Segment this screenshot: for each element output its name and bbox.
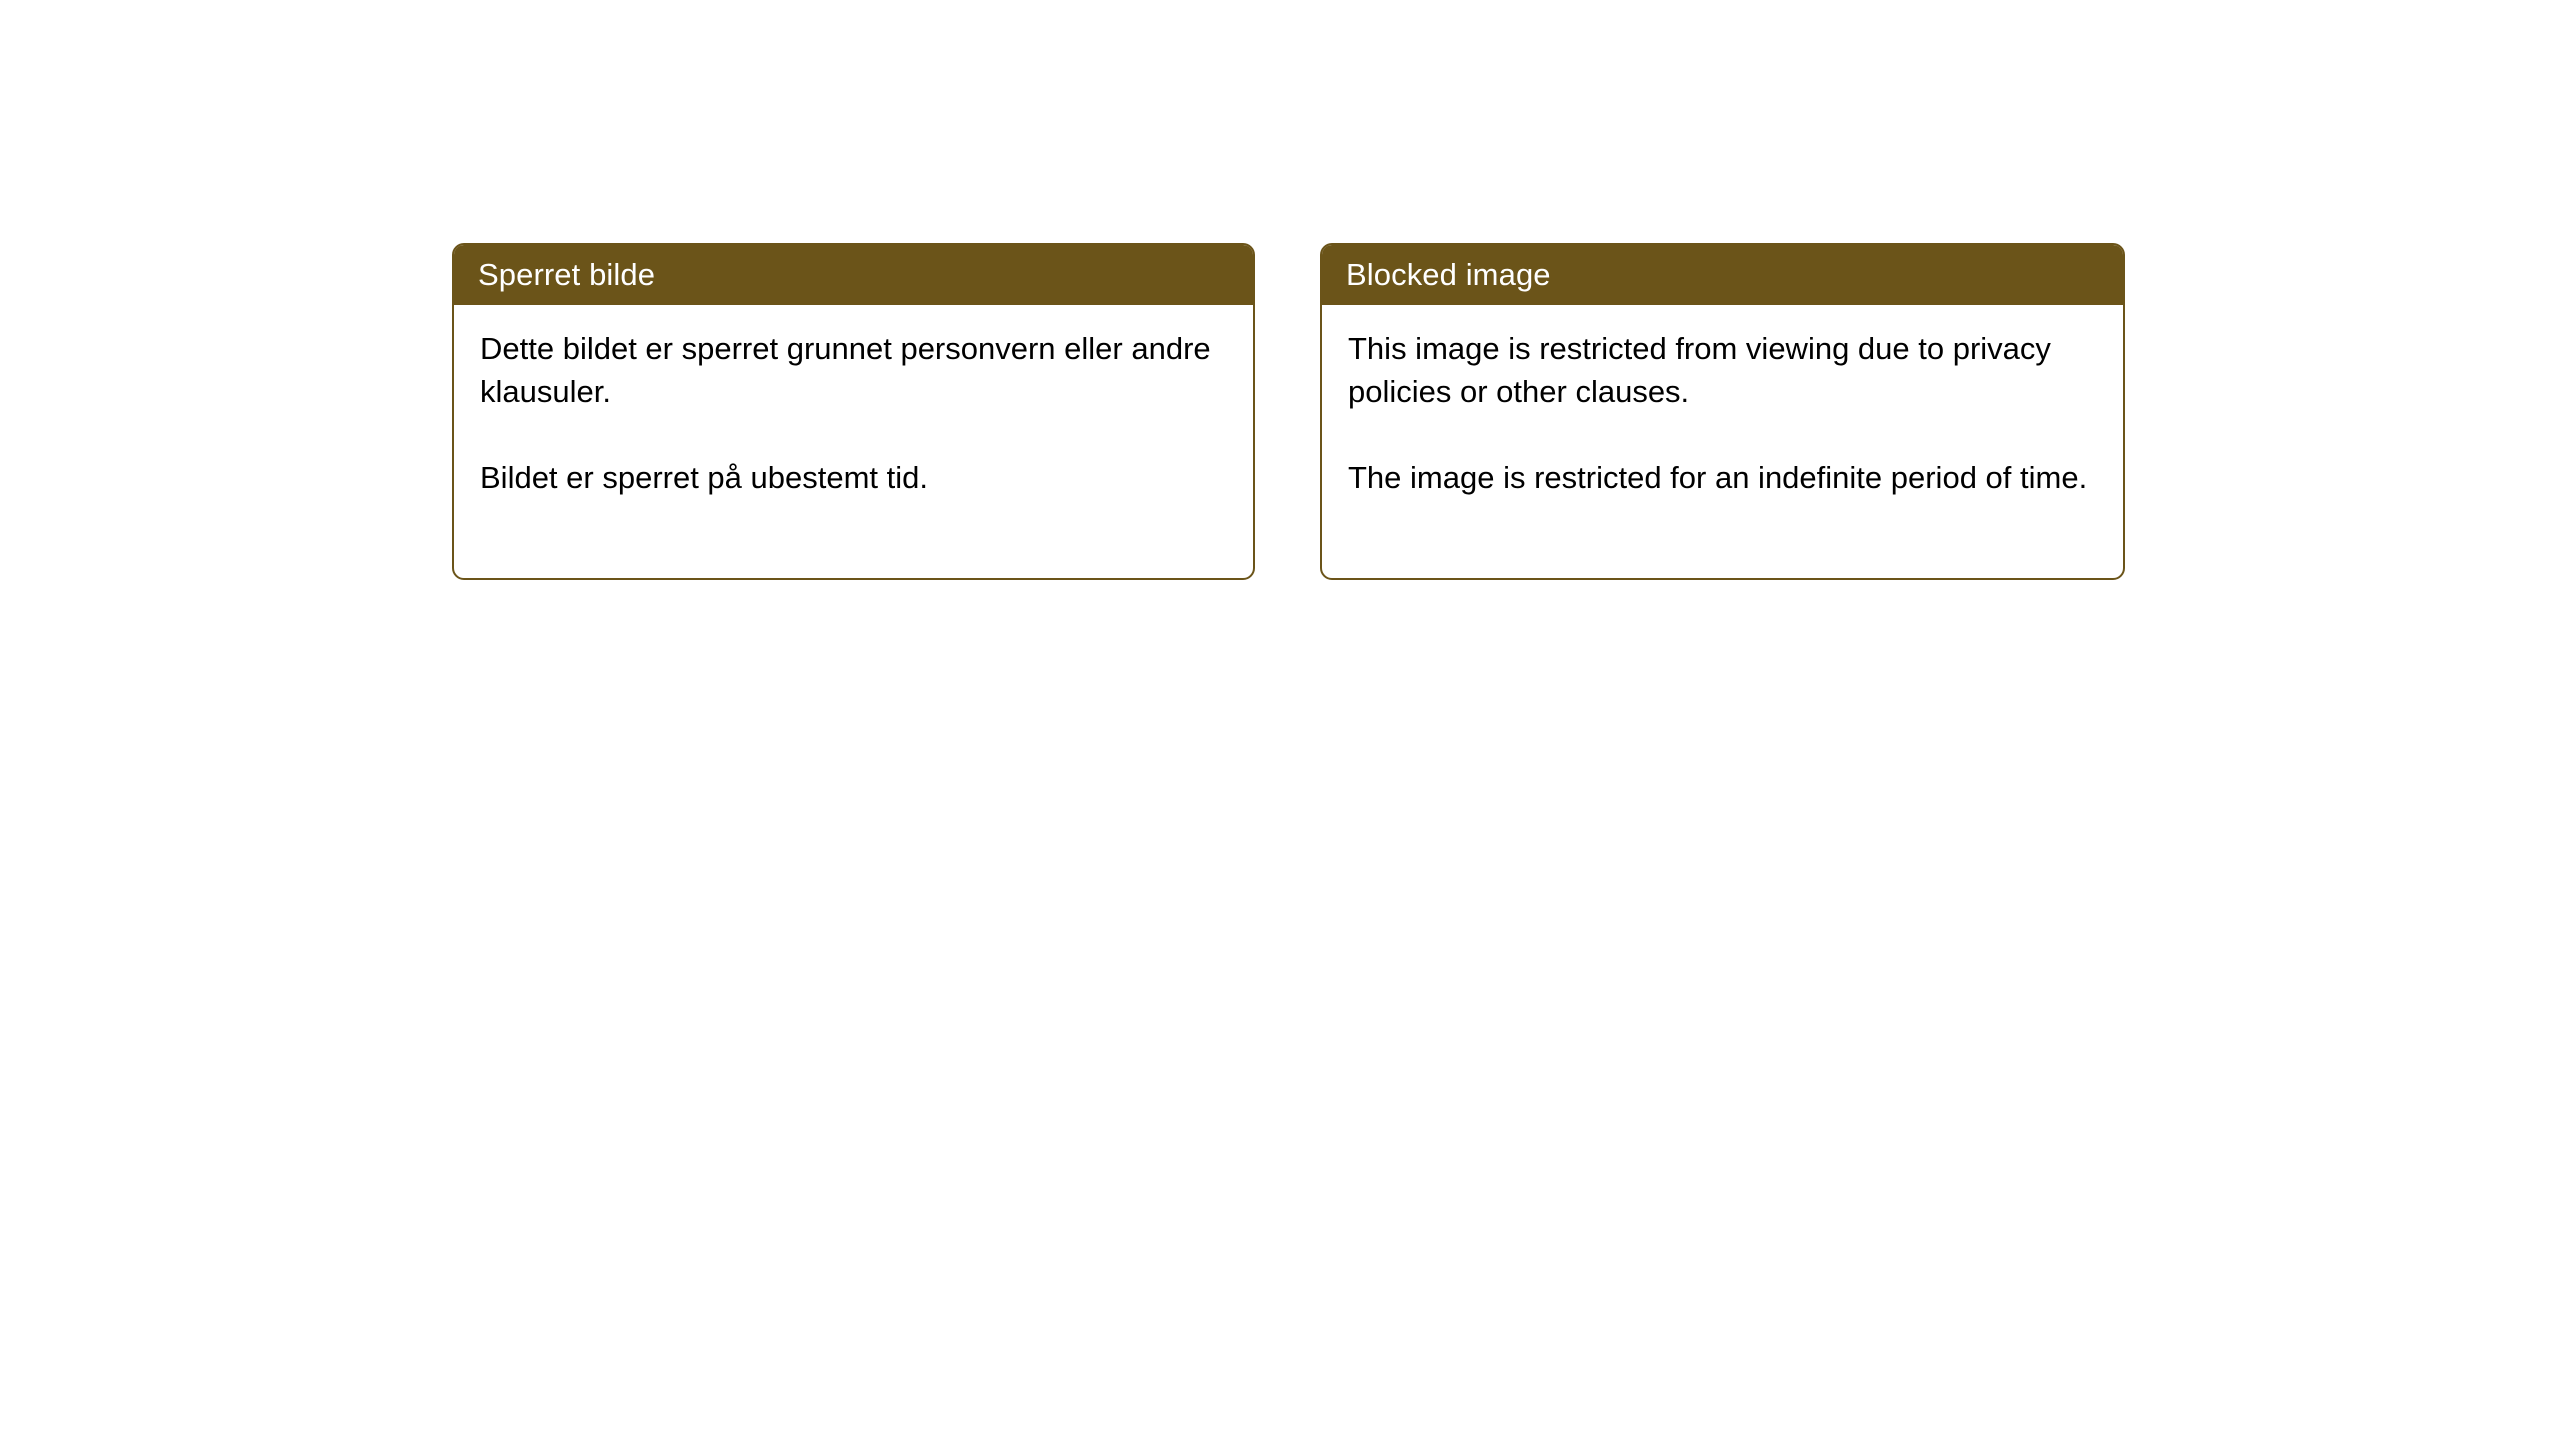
blocked-image-notice-card-english: Blocked image This image is restricted f…	[1320, 243, 2125, 580]
card-paragraph-primary-norwegian: Dette bildet er sperret grunnet personve…	[480, 327, 1227, 413]
blocked-image-notice-card-norwegian: Sperret bilde Dette bildet er sperret gr…	[452, 243, 1255, 580]
card-title-english: Blocked image	[1346, 257, 1551, 293]
page-canvas: Sperret bilde Dette bildet er sperret gr…	[0, 0, 2560, 1440]
card-paragraph-secondary-norwegian: Bildet er sperret på ubestemt tid.	[480, 456, 1227, 499]
card-paragraph-primary-english: This image is restricted from viewing du…	[1348, 327, 2097, 413]
card-header-norwegian: Sperret bilde	[454, 245, 1253, 305]
card-body-english: This image is restricted from viewing du…	[1322, 305, 2123, 519]
card-body-norwegian: Dette bildet er sperret grunnet personve…	[454, 305, 1253, 519]
card-header-english: Blocked image	[1322, 245, 2123, 305]
card-title-norwegian: Sperret bilde	[478, 257, 655, 293]
card-paragraph-secondary-english: The image is restricted for an indefinit…	[1348, 456, 2097, 499]
